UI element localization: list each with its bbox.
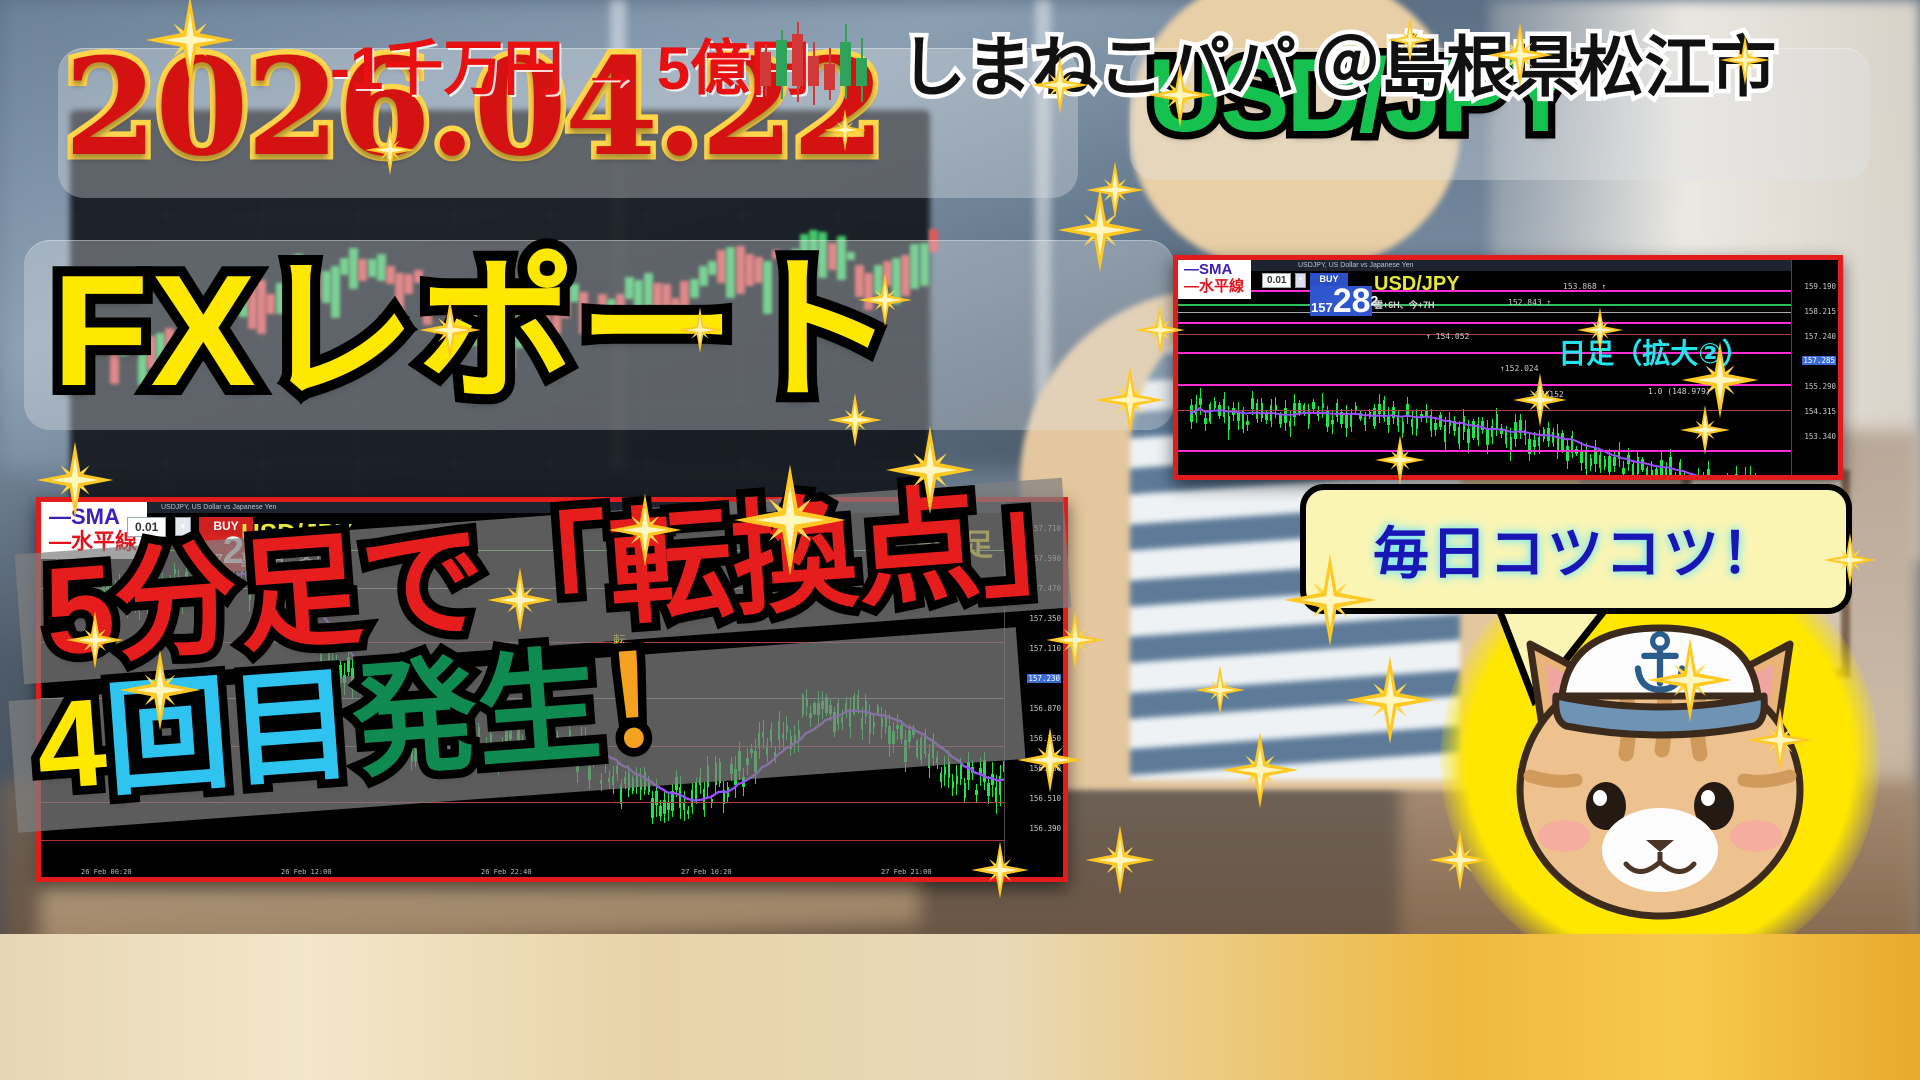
chart-daily-price-small: 157 [1311,300,1333,315]
chart-daily-price-scale[interactable]: 159.190158.215157.240156.265155.290154.3… [1791,260,1838,475]
headline-title: FXレポート [52,252,898,410]
candle [1749,475,1752,480]
price-scale-tick: 156.630 [1029,764,1061,773]
chevron-down-icon[interactable]: ▾ [1295,273,1306,288]
candle-wick [1764,476,1765,480]
candle [1698,478,1701,480]
price-scale-tick: 157.350 [1029,614,1061,623]
candle [1745,475,1748,480]
hline-swatch: — [1184,278,1199,295]
chart-daily-subsymbol: 雲+6H、今+7H [1374,298,1435,311]
price-scale-tick: 158.215 [1804,307,1836,316]
time-axis-label: 26 Feb 00:20 [81,868,132,876]
candle-wick [1717,478,1718,480]
bottom-band-right-text: しまねこパパ ＠島根県松江市 [900,14,1776,110]
chart-daily-legend-sma: SMA [1199,261,1232,278]
overlay-line2-part-2: 発生 [348,637,605,793]
price-scale-tick: 155.290 [1804,382,1836,391]
chart-daily-price-label-4: —SMA152 [1530,390,1564,399]
chart-m5-legend-sma: SMA [71,504,120,529]
time-axis-label: 27 Feb 21:00 [881,868,932,876]
candle [792,34,803,86]
candle [1702,479,1705,480]
candle [760,52,771,86]
candle [1674,476,1677,480]
price-scale-tick: 157.110 [1029,644,1061,653]
sma-swatch: — [49,504,71,529]
speech-bubble: 毎日コツコツ！ [1300,484,1852,614]
speech-bubble-text: 毎日コツコツ！ [1373,509,1779,590]
chart-daily-price-label-1: 152.843 ↑ [1508,298,1551,307]
candle [1726,477,1729,480]
lot-size-input[interactable]: 0.01 [1262,273,1291,288]
overlay-line2-part-3: ！ [595,628,729,775]
price-scale-tick: 156.390 [1029,824,1061,833]
bottom-band-left-text: -1千万円 → 5億円 [330,20,810,107]
candle-wick [1778,478,1779,480]
chart-daily-price-big: 28 [1333,282,1371,320]
price-scale-tick: 156.870 [1029,704,1061,713]
chart-m5-time-axis: 26 Feb 00:2026 Feb 12:0026 Feb 22:4027 F… [41,865,1063,877]
candle-wick [1760,477,1761,480]
current-price-tick: 157.285 [1802,356,1836,365]
current-price-tick: 157.230 [1027,674,1061,683]
chart-daily-price-label-2: ↑ 154.052 [1426,332,1469,341]
price-scale-tick: 157.240 [1804,332,1836,341]
candle-wick [1722,476,1723,480]
chart-window-daily[interactable]: USDJPY, US Dollar vs Japanese Yen —SMA —… [1173,255,1843,480]
overlay-line2-part-0: 4 [32,673,111,816]
chart-daily-timeframe-tag: 日足（拡大②） [1558,332,1750,372]
time-axis-label: 26 Feb 22:40 [481,868,532,876]
candle [856,58,867,86]
price-scale-tick: 159.190 [1804,282,1836,291]
time-axis-label: 26 Feb 12:00 [281,868,332,876]
chart-daily-price-label-3: ↑152.024 [1500,364,1539,373]
candle [824,64,835,90]
chart-daily-price-label-5: 1.0 (148.979) [1648,387,1711,396]
price-scale-tick: 154.315 [1804,407,1836,416]
candle [1684,478,1687,481]
candle [776,40,787,86]
price-scale-tick: 153.340 [1804,432,1836,441]
candle [808,56,819,86]
price-scale-tick: 156.750 [1029,734,1061,743]
chart-daily-legend-hline: 水平線 [1199,278,1244,295]
candle-wick [1769,478,1770,480]
cat-avatar-icon [1490,600,1830,940]
time-axis-label: 27 Feb 10:20 [681,868,732,876]
candle-wick [1741,475,1742,480]
bottom-band [0,934,1920,1080]
price-scale-tick: 156.510 [1029,794,1061,803]
candle-wick [1694,474,1695,480]
chart-daily-symbol: USD/JPY [1374,273,1460,296]
chart-daily-legend: —SMA —水平線 [1178,260,1251,299]
overlay-line2-part-1: 回目 [101,655,358,811]
candle [840,42,851,86]
candlestick-icon [760,30,890,126]
thumbnail-canvas: 2026.04.22 USD/JPY FXレポート USDJPY, US Dol… [0,0,1920,1080]
lot-size-input[interactable]: 0.01 [127,517,166,537]
chart-daily-price-label-0: 153.868 ↑ [1563,282,1606,291]
sma-swatch: — [1184,261,1199,278]
